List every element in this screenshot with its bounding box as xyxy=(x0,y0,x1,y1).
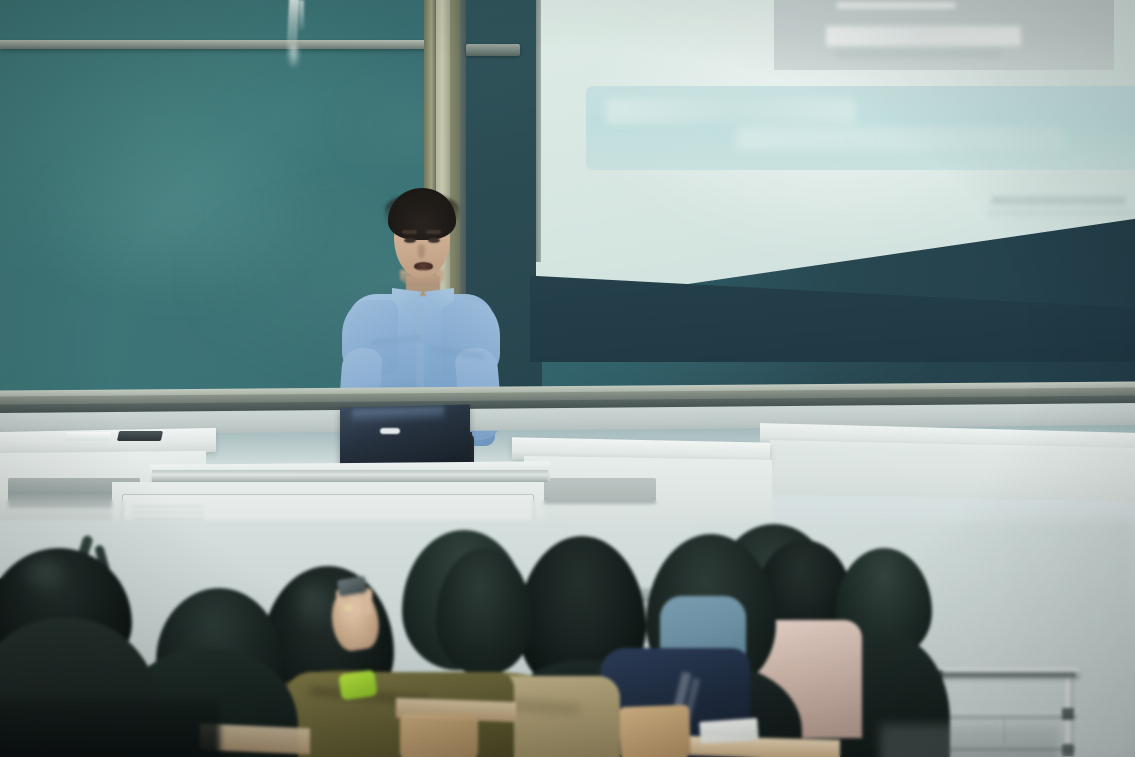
foreground-shadow-left xyxy=(0,700,220,757)
student-hair-highlight-left xyxy=(16,556,72,596)
paper-on-counter xyxy=(65,432,111,441)
lectern-rail xyxy=(152,470,548,482)
green-collar-accent xyxy=(338,670,377,701)
slide-heading-text xyxy=(826,26,1021,46)
slide-title-text xyxy=(836,2,956,9)
lecturer-chin xyxy=(400,270,444,286)
chair-back-3 xyxy=(400,714,478,757)
cart-corner-cap-top-right xyxy=(1062,708,1074,720)
projection-screen-left-edge xyxy=(536,0,541,262)
remote-control-on-counter xyxy=(117,431,163,441)
lecturer-eyebrow-left xyxy=(402,230,417,234)
cart-shelf-middle xyxy=(932,712,1078,719)
lecturer-eye-right xyxy=(428,238,440,243)
side-counter-far-right-body xyxy=(770,440,1135,502)
student-hair-highlight-center xyxy=(288,580,334,632)
chalk-mark-secondary-icon xyxy=(299,0,304,30)
foreground-haze-right xyxy=(880,724,1060,757)
lecturer-hairline xyxy=(385,194,459,224)
finger-ring xyxy=(344,604,353,611)
slide-highlight-text-line-1 xyxy=(606,98,856,124)
paper-on-desk-1 xyxy=(699,718,758,744)
chalkboard-top-rail-left xyxy=(0,40,440,49)
lecturer-eyebrow-right xyxy=(426,230,441,234)
lecturer-eye-left xyxy=(404,238,416,243)
slide-subheading-text xyxy=(836,50,1001,58)
lecture-hall-photograph xyxy=(0,0,1135,757)
cart-corner-cap-bottom-right xyxy=(1062,744,1074,756)
side-counter-right-recess xyxy=(536,478,656,504)
slide-highlight-text-line-2 xyxy=(736,126,1066,150)
cart-shelf-top-lip xyxy=(934,672,1076,677)
slide-body-text-line-1 xyxy=(991,196,1126,205)
lecturer-nose xyxy=(418,244,425,258)
screen-mount-bracket xyxy=(466,44,520,56)
bag-clasp xyxy=(380,428,400,434)
chair-back-2 xyxy=(619,705,691,757)
slide-body-text-line-2 xyxy=(988,210,1133,216)
chalk-mark-glow xyxy=(287,44,300,68)
